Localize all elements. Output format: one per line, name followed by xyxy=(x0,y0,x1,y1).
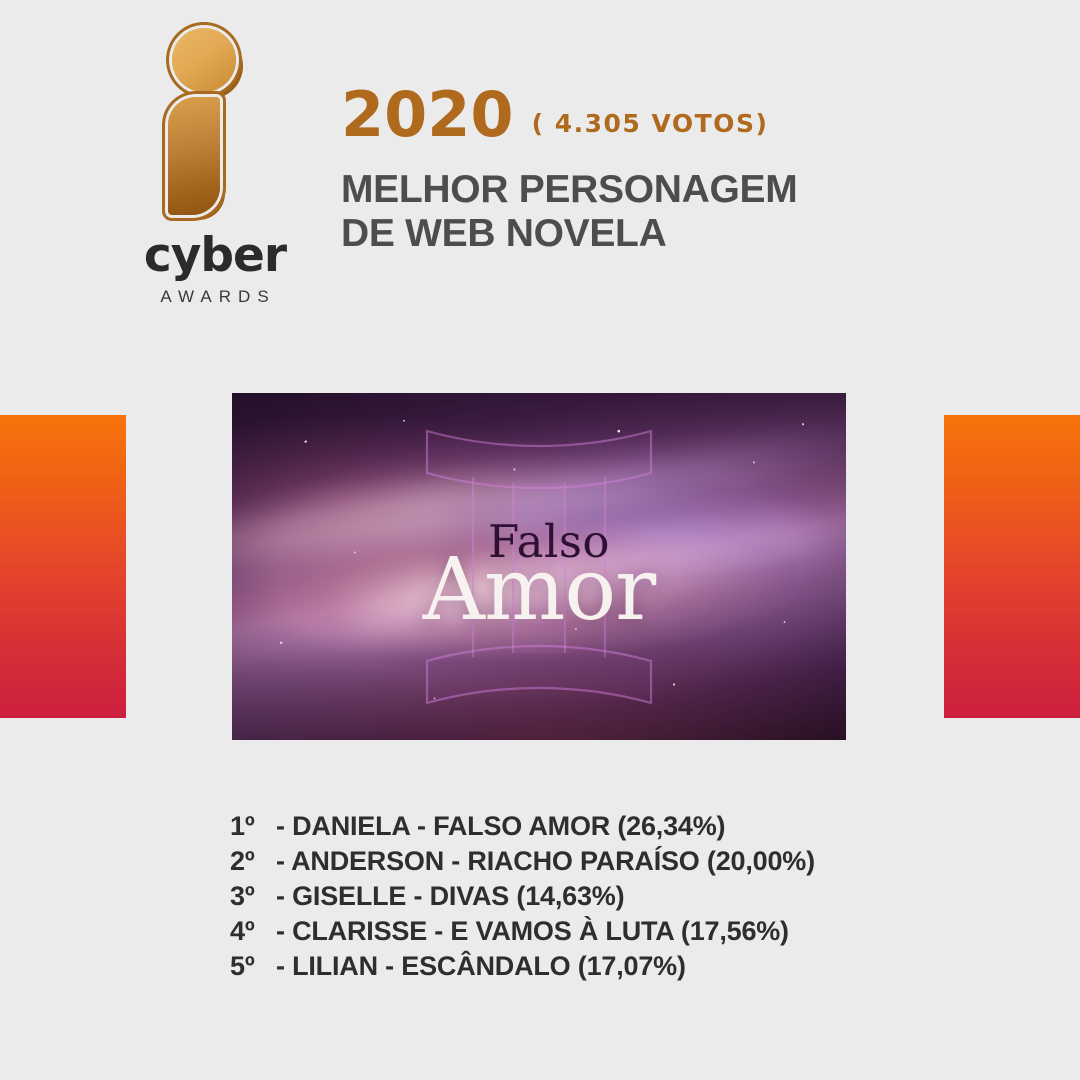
result-text: - ANDERSON - RIACHO PARAÍSO (20,00%) xyxy=(276,846,815,877)
artwork-title-line1: Falso xyxy=(242,519,846,564)
vote-count: ( 4.305 VOTOS) xyxy=(532,111,769,136)
result-text: - CLARISSE - E VAMOS À LUTA (17,56%) xyxy=(276,916,789,947)
left-accent-bar xyxy=(0,415,126,718)
logo-dot-icon xyxy=(172,28,236,92)
logo-stem-icon xyxy=(168,97,220,215)
right-accent-bar xyxy=(944,415,1080,718)
list-item: 4º - CLARISSE - E VAMOS À LUTA (17,56%) xyxy=(230,916,990,951)
result-text: - DANIELA - FALSO AMOR (26,34%) xyxy=(276,811,725,842)
poster-canvas: cyber AWARDS 2020 ( 4.305 VOTOS) MELHOR … xyxy=(0,0,1080,1080)
list-item: 1º - DANIELA - FALSO AMOR (26,34%) xyxy=(230,811,990,846)
year-row: 2020 ( 4.305 VOTOS) xyxy=(341,84,1001,146)
category-title: MELHOR PERSONAGEM DE WEB NOVELA xyxy=(341,168,1001,256)
result-text: - LILIAN - ESCÂNDALO (17,07%) xyxy=(276,951,686,982)
logo-word-awards: AWARDS xyxy=(120,288,310,305)
cyber-awards-i-mark-icon xyxy=(154,24,274,224)
list-item: 2º - ANDERSON - RIACHO PARAÍSO (20,00%) xyxy=(230,846,990,881)
list-item: 3º - GISELLE - DIVAS (14,63%) xyxy=(230,881,990,916)
results-list: 1º - DANIELA - FALSO AMOR (26,34%) 2º - … xyxy=(230,811,990,986)
award-year: 2020 xyxy=(341,84,514,146)
headline-block: 2020 ( 4.305 VOTOS) MELHOR PERSONAGEM DE… xyxy=(341,84,1001,256)
result-text: - GISELLE - DIVAS (14,63%) xyxy=(276,881,624,912)
logo-word-cyber: cyber xyxy=(120,232,310,279)
result-rank: 2º xyxy=(230,846,276,877)
result-rank: 3º xyxy=(230,881,276,912)
artwork-title: Falso Amor xyxy=(232,519,846,632)
list-item: 5º - LILIAN - ESCÂNDALO (17,07%) xyxy=(230,951,990,986)
result-rank: 4º xyxy=(230,916,276,947)
logo-wordmark: cyber AWARDS xyxy=(120,232,310,305)
winner-artwork: Falso Amor xyxy=(232,393,846,740)
brand-logo: cyber AWARDS xyxy=(120,24,310,304)
result-rank: 5º xyxy=(230,951,276,982)
result-rank: 1º xyxy=(230,811,276,842)
